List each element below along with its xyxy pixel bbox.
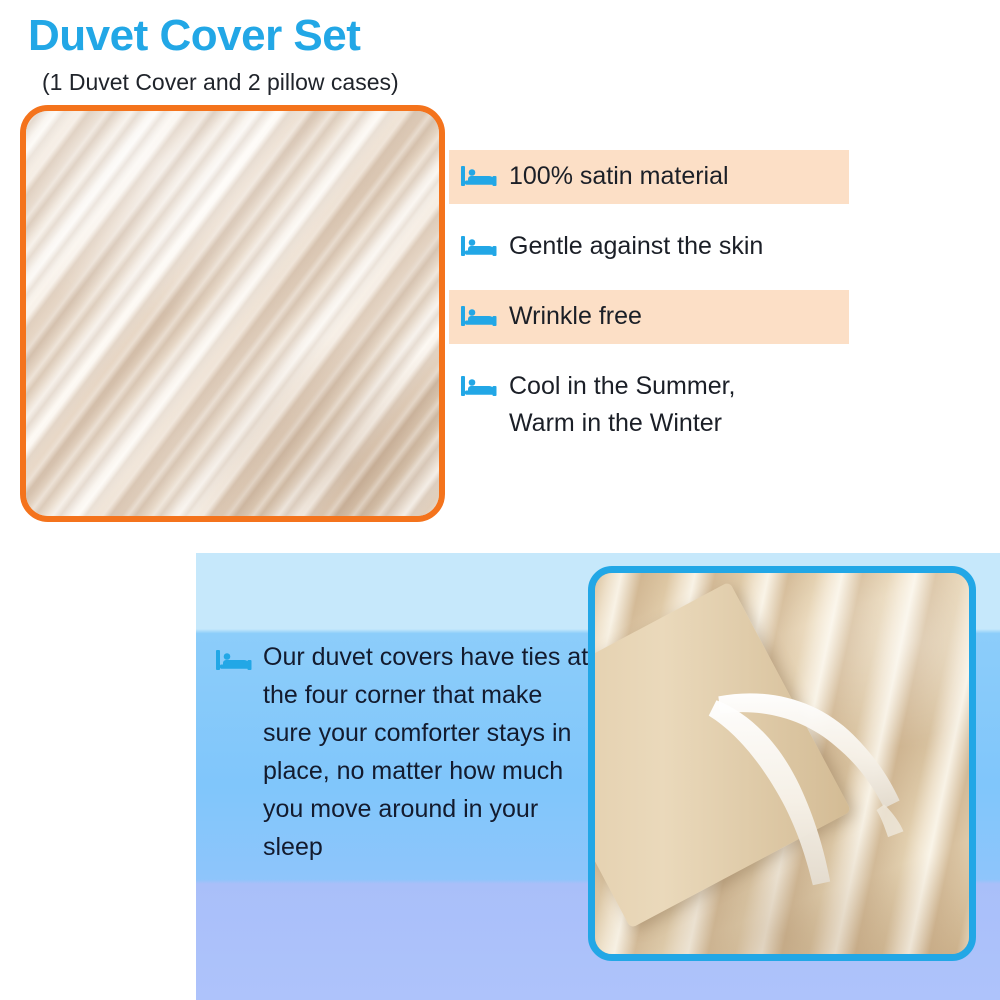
feature-row: Cool in the Summer, Warm in the Winter [449, 360, 849, 446]
satin-texture [26, 111, 439, 516]
ties-text-block: Our duvet covers have ties at the four c… [216, 638, 596, 866]
page-title: Duvet Cover Set [28, 14, 360, 58]
feature-row: Gentle against the skin [449, 220, 849, 274]
row-gap [449, 274, 849, 290]
infographic-canvas: Duvet Cover Set (1 Duvet Cover and 2 pil… [0, 0, 1000, 1000]
satin-fabric-photo [20, 105, 445, 522]
row-gap [449, 344, 849, 360]
bed-icon [461, 373, 497, 399]
feature-row: Wrinkle free [449, 290, 849, 344]
feature-row: 100% satin material [449, 150, 849, 204]
bed-icon [461, 163, 497, 189]
ties-description: Our duvet covers have ties at the four c… [263, 638, 596, 866]
row-gap [449, 204, 849, 220]
feature-label: Gentle against the skin [509, 220, 763, 265]
bed-icon [461, 303, 497, 329]
bed-icon [216, 647, 252, 673]
ribbon-ties [595, 573, 969, 954]
feature-label: Wrinkle free [509, 290, 642, 335]
feature-label: Cool in the Summer, Warm in the Winter [509, 360, 736, 442]
feature-list: 100% satin material Gentle against the s… [449, 150, 849, 446]
bed-icon [461, 233, 497, 259]
feature-label: 100% satin material [509, 150, 729, 195]
page-subtitle: (1 Duvet Cover and 2 pillow cases) [42, 70, 399, 95]
duvet-ties-photo [588, 566, 976, 961]
